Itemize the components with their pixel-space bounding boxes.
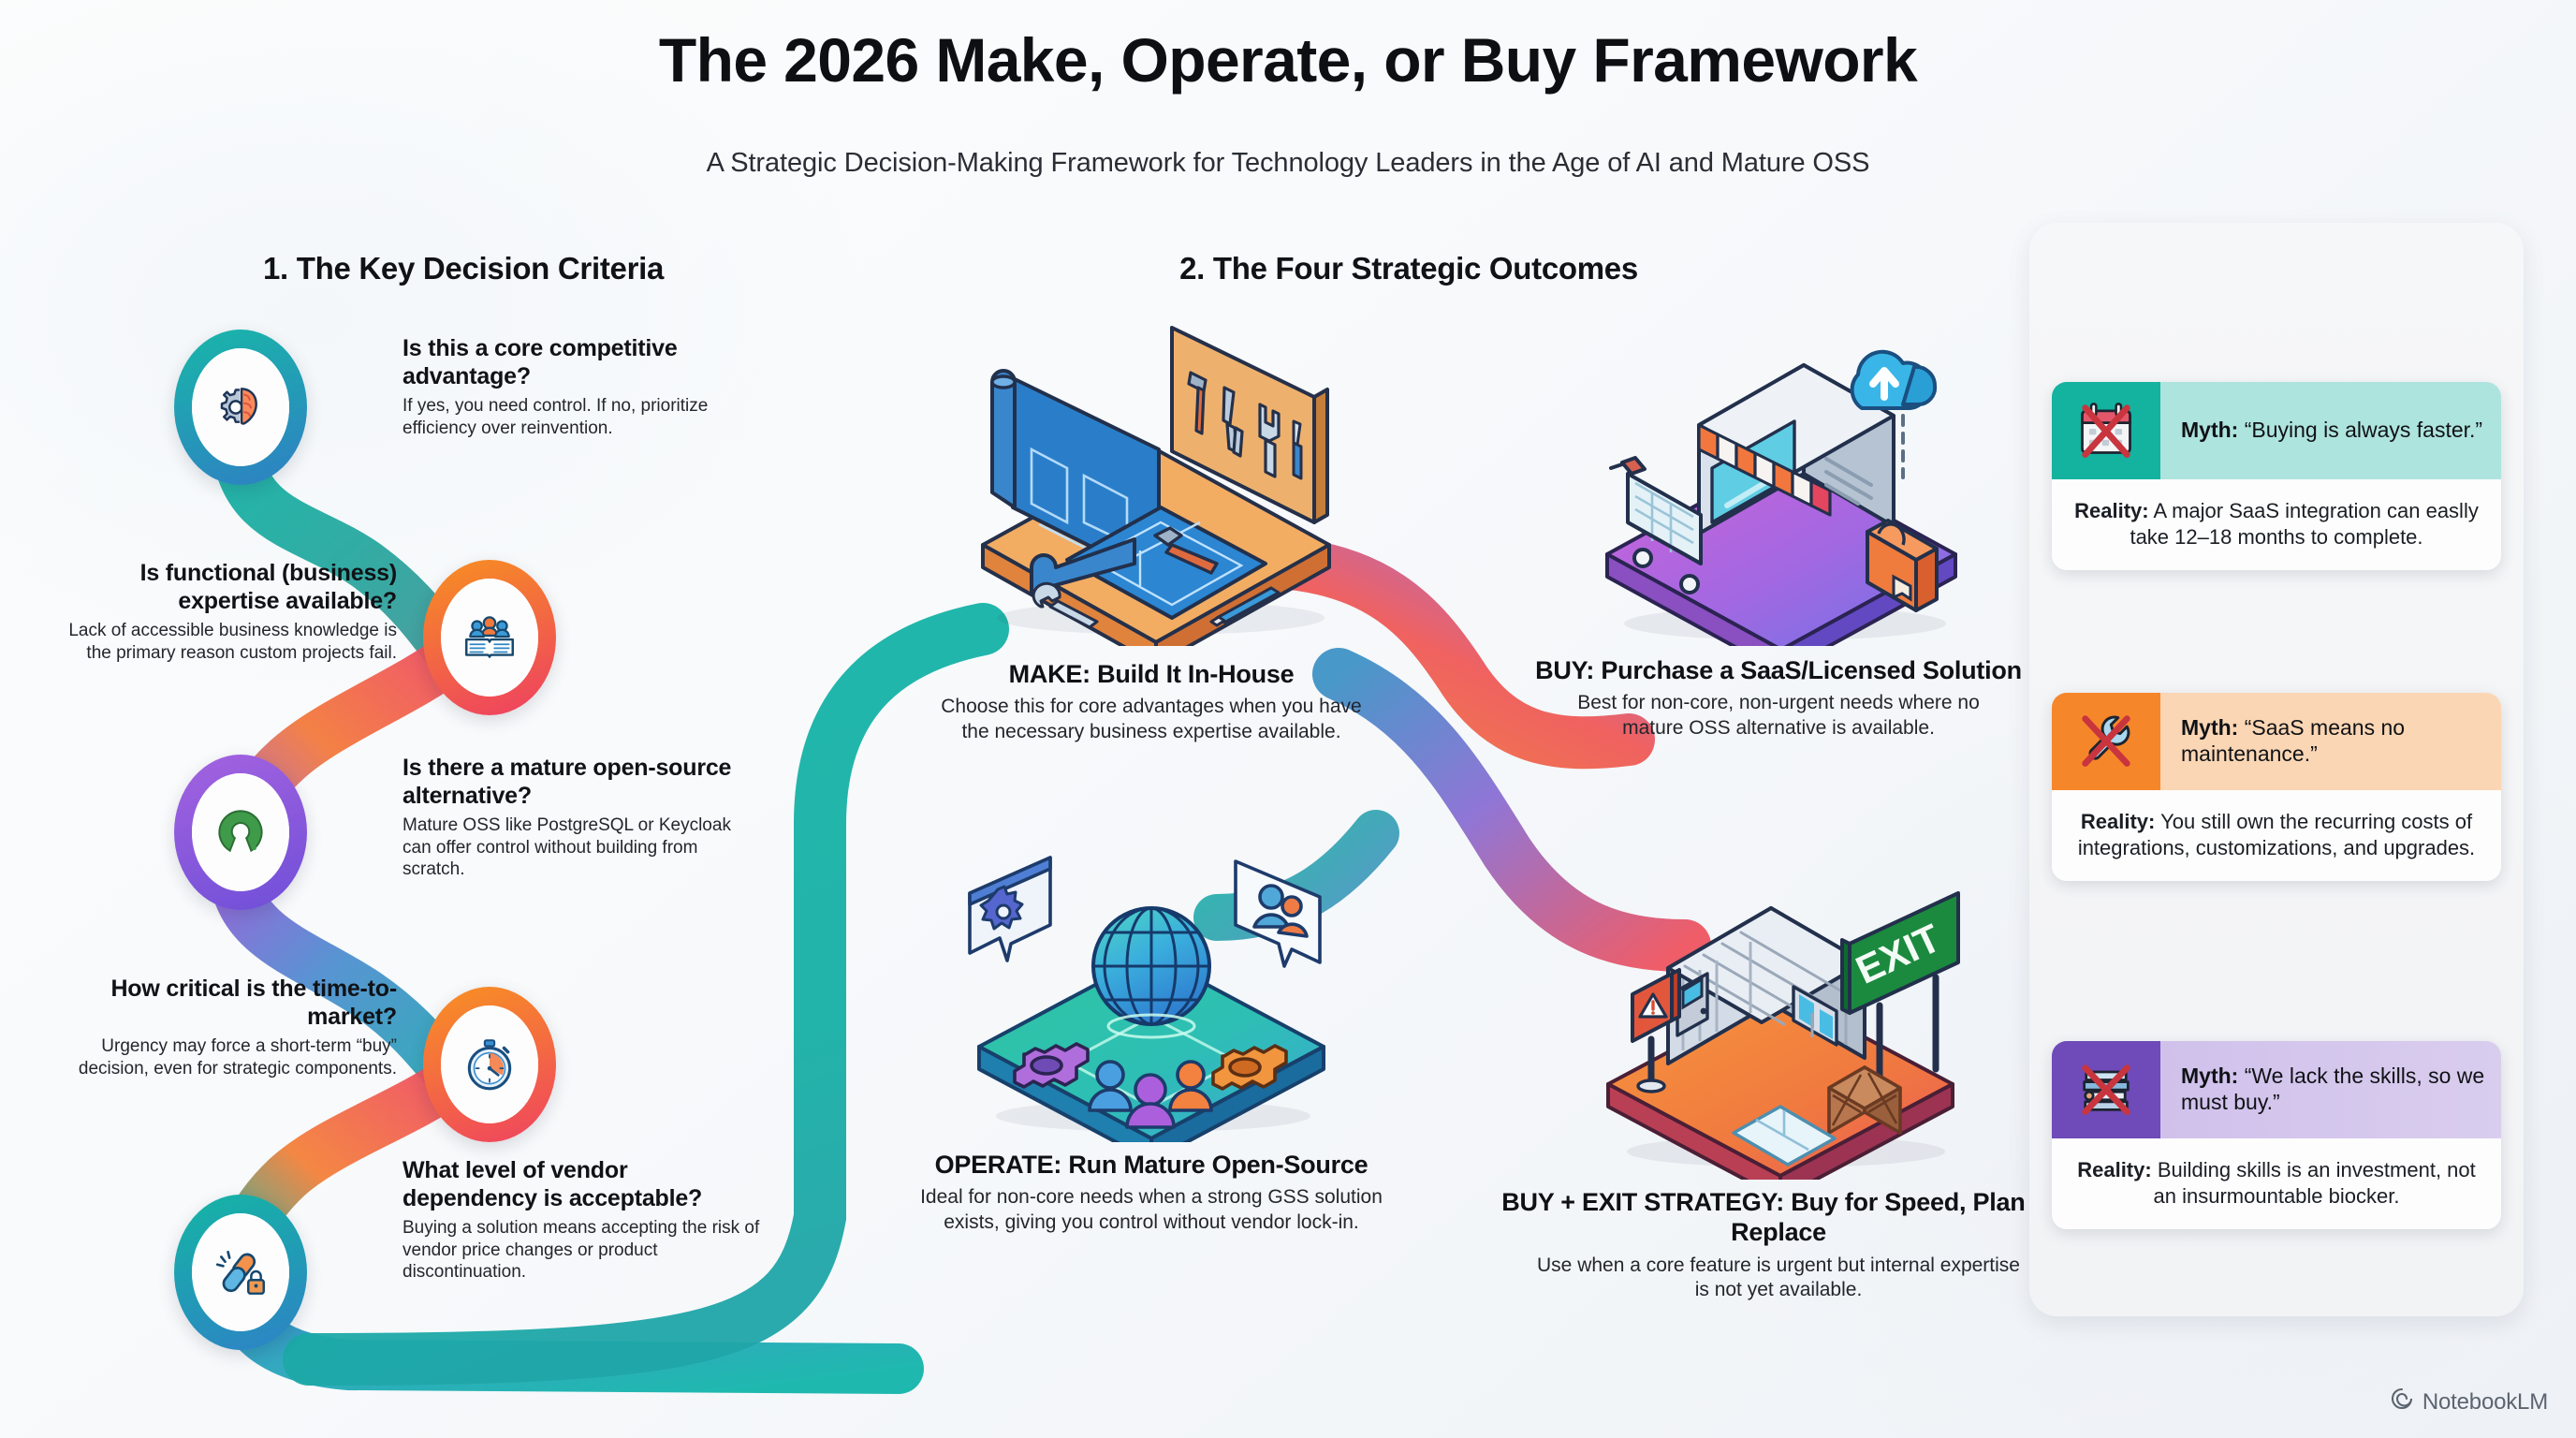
outcome-buy-exit[interactable]: EXIT BUY + EXIT STRATEGY: Buy for Speed,… [1498,852,2059,1303]
book-people-icon [459,607,520,668]
gear-brain-icon [210,376,271,438]
criteria-detail-3: Mature OSS like PostgreSQL or Keycloak c… [402,814,739,881]
criteria-node-4[interactable] [423,987,556,1142]
outcome-make-title: MAKE: Build It In-House [889,659,1413,689]
myth-card-1-icon-wrap [2052,382,2160,479]
criteria-detail-2: Lack of accessible business knowledge is… [62,620,397,664]
criteria-node-3-inner [192,773,289,891]
criteria-text-5: What level of vendor dependency is accep… [402,1157,768,1284]
criteria-node-1-inner [192,348,289,466]
myth-card-1[interactable]: Myth: “Buying is always faster.” Reality… [2052,382,2501,570]
criteria-node-5-inner [192,1213,289,1331]
myth-card-3-reality-text: Building skills is an investment, not an… [2154,1158,2476,1208]
section-heading-outcomes: 2. The Four Strategic Outcomes [1109,251,1708,286]
myth-card-1-reality-label: Reality: [2074,499,2148,522]
myth-card-3-icon-wrap [2052,1041,2160,1138]
myth-card-3-body: Reality: Building skills is an investmen… [2052,1138,2501,1229]
myth-card-1-question: Myth: “Buying is always faster.” [2160,382,2501,479]
outcome-buy-desc: Best for non-core, non-urgent needs wher… [1516,691,2041,741]
criteria-question-3: Is there a mature open-source alternativ… [402,755,739,810]
chain-lock-icon [210,1241,271,1303]
criteria-question-2: Is functional (business) expertise avail… [62,560,397,615]
myth-card-1-body: Reality: A major SaaS integration can ea… [2052,479,2501,570]
criteria-text-1: Is this a core competitive advantage? If… [402,335,751,439]
myth-card-3-header: Myth: “We lack the skills, so we must bu… [2052,1041,2501,1138]
criteria-detail-5: Buying a solution means accepting the ri… [402,1217,768,1284]
books-crossed-icon [2074,1056,2138,1124]
myth-card-1-text: “Buying is always faster.” [2245,418,2482,442]
myth-card-2-header: Myth: “SaaS means no maintenance.” [2052,693,2501,790]
make-illustration-wrap [889,309,1413,646]
page-subtitle: A Strategic Decision-Making Framework fo… [0,148,2576,179]
open-source-icon [210,801,271,863]
notebooklm-spiral-icon [2390,1387,2414,1417]
criteria-question-4: How critical is the time-to-market? [62,976,397,1031]
criteria-text-2: Is functional (business) expertise avail… [62,560,397,664]
outcome-operate-title: OPERATE: Run Mature Open-Source [885,1150,1418,1180]
storefront-cart-cloud-icon [1516,318,2041,646]
criteria-text-3: Is there a mature open-source alternativ… [402,755,739,881]
outcome-buy-title: BUY: Purchase a SaaS/Licensed Solution [1516,655,2041,685]
criteria-node-2-inner [441,579,538,697]
outcome-make[interactable]: MAKE: Build It In-House Choose this for … [889,309,1413,744]
outcome-make-desc: Choose this for core advantages when you… [889,695,1413,744]
buy-illustration-wrap [1516,318,2041,646]
criteria-question-1: Is this a core competitive advantage? [402,335,751,390]
outcome-buy[interactable]: BUY: Purchase a SaaS/Licensed Solution B… [1516,318,2041,741]
outcome-operate[interactable]: OPERATE: Run Mature Open-Source Ideal fo… [885,824,1418,1235]
criteria-detail-1: If yes, you need control. If no, priorit… [402,395,751,439]
calendar-crossed-icon [2074,397,2138,465]
myth-card-2-question: Myth: “SaaS means no maintenance.” [2160,693,2501,790]
outcome-buy-exit-title: BUY + EXIT STRATEGY: Buy for Speed, Plan… [1498,1187,2059,1248]
myth-card-3-label: Myth: [2181,1064,2238,1088]
myth-card-1-label: Myth: [2181,418,2238,442]
myth-card-3[interactable]: Myth: “We lack the skills, so we must bu… [2052,1041,2501,1229]
myth-card-2-body: Reality: You still own the recurring cos… [2052,790,2501,881]
wrench-crossed-icon [2074,708,2138,776]
criteria-node-3[interactable] [174,755,307,910]
page-title: The 2026 Make, Operate, or Buy Framework [0,24,2576,95]
myth-card-2-reality-label: Reality: [2081,810,2155,833]
watermark: NotebookLM [2390,1387,2548,1417]
buy-exit-illustration-wrap: EXIT [1498,852,2059,1180]
watermark-label: NotebookLM [2422,1389,2548,1416]
section-heading-criteria: 1. The Key Decision Criteria [164,251,763,286]
criteria-question-5: What level of vendor dependency is accep… [402,1157,768,1212]
criteria-node-4-inner [441,1005,538,1123]
criteria-detail-4: Urgency may force a short-term “buy” dec… [62,1035,397,1079]
myth-card-1-header: Myth: “Buying is always faster.” [2052,382,2501,479]
stopwatch-icon [459,1034,520,1095]
criteria-node-2[interactable] [423,560,556,715]
outcome-operate-desc: Ideal for non-core needs when a strong G… [885,1185,1418,1235]
myth-card-2-label: Myth: [2181,715,2238,740]
workshop-blueprint-tools-icon [889,309,1413,646]
myth-card-2-icon-wrap [2052,693,2160,790]
globe-gears-community-icon [885,824,1418,1142]
criteria-node-1[interactable] [174,330,307,485]
myth-card-1-reality-text: A major SaaS integration can easlly take… [2130,499,2478,549]
myth-card-3-question: Myth: “We lack the skills, so we must bu… [2160,1041,2501,1138]
myth-card-3-reality-label: Reality: [2077,1158,2151,1181]
outcome-buy-exit-desc: Use when a core feature is urgent but in… [1498,1254,2059,1303]
myth-card-2[interactable]: Myth: “SaaS means no maintenance.” Reali… [2052,693,2501,881]
modular-building-exit-sign-icon: EXIT [1498,852,2059,1180]
criteria-node-5[interactable] [174,1195,307,1350]
criteria-text-4: How critical is the time-to-market? Urge… [62,976,397,1079]
operate-illustration-wrap [885,824,1418,1142]
